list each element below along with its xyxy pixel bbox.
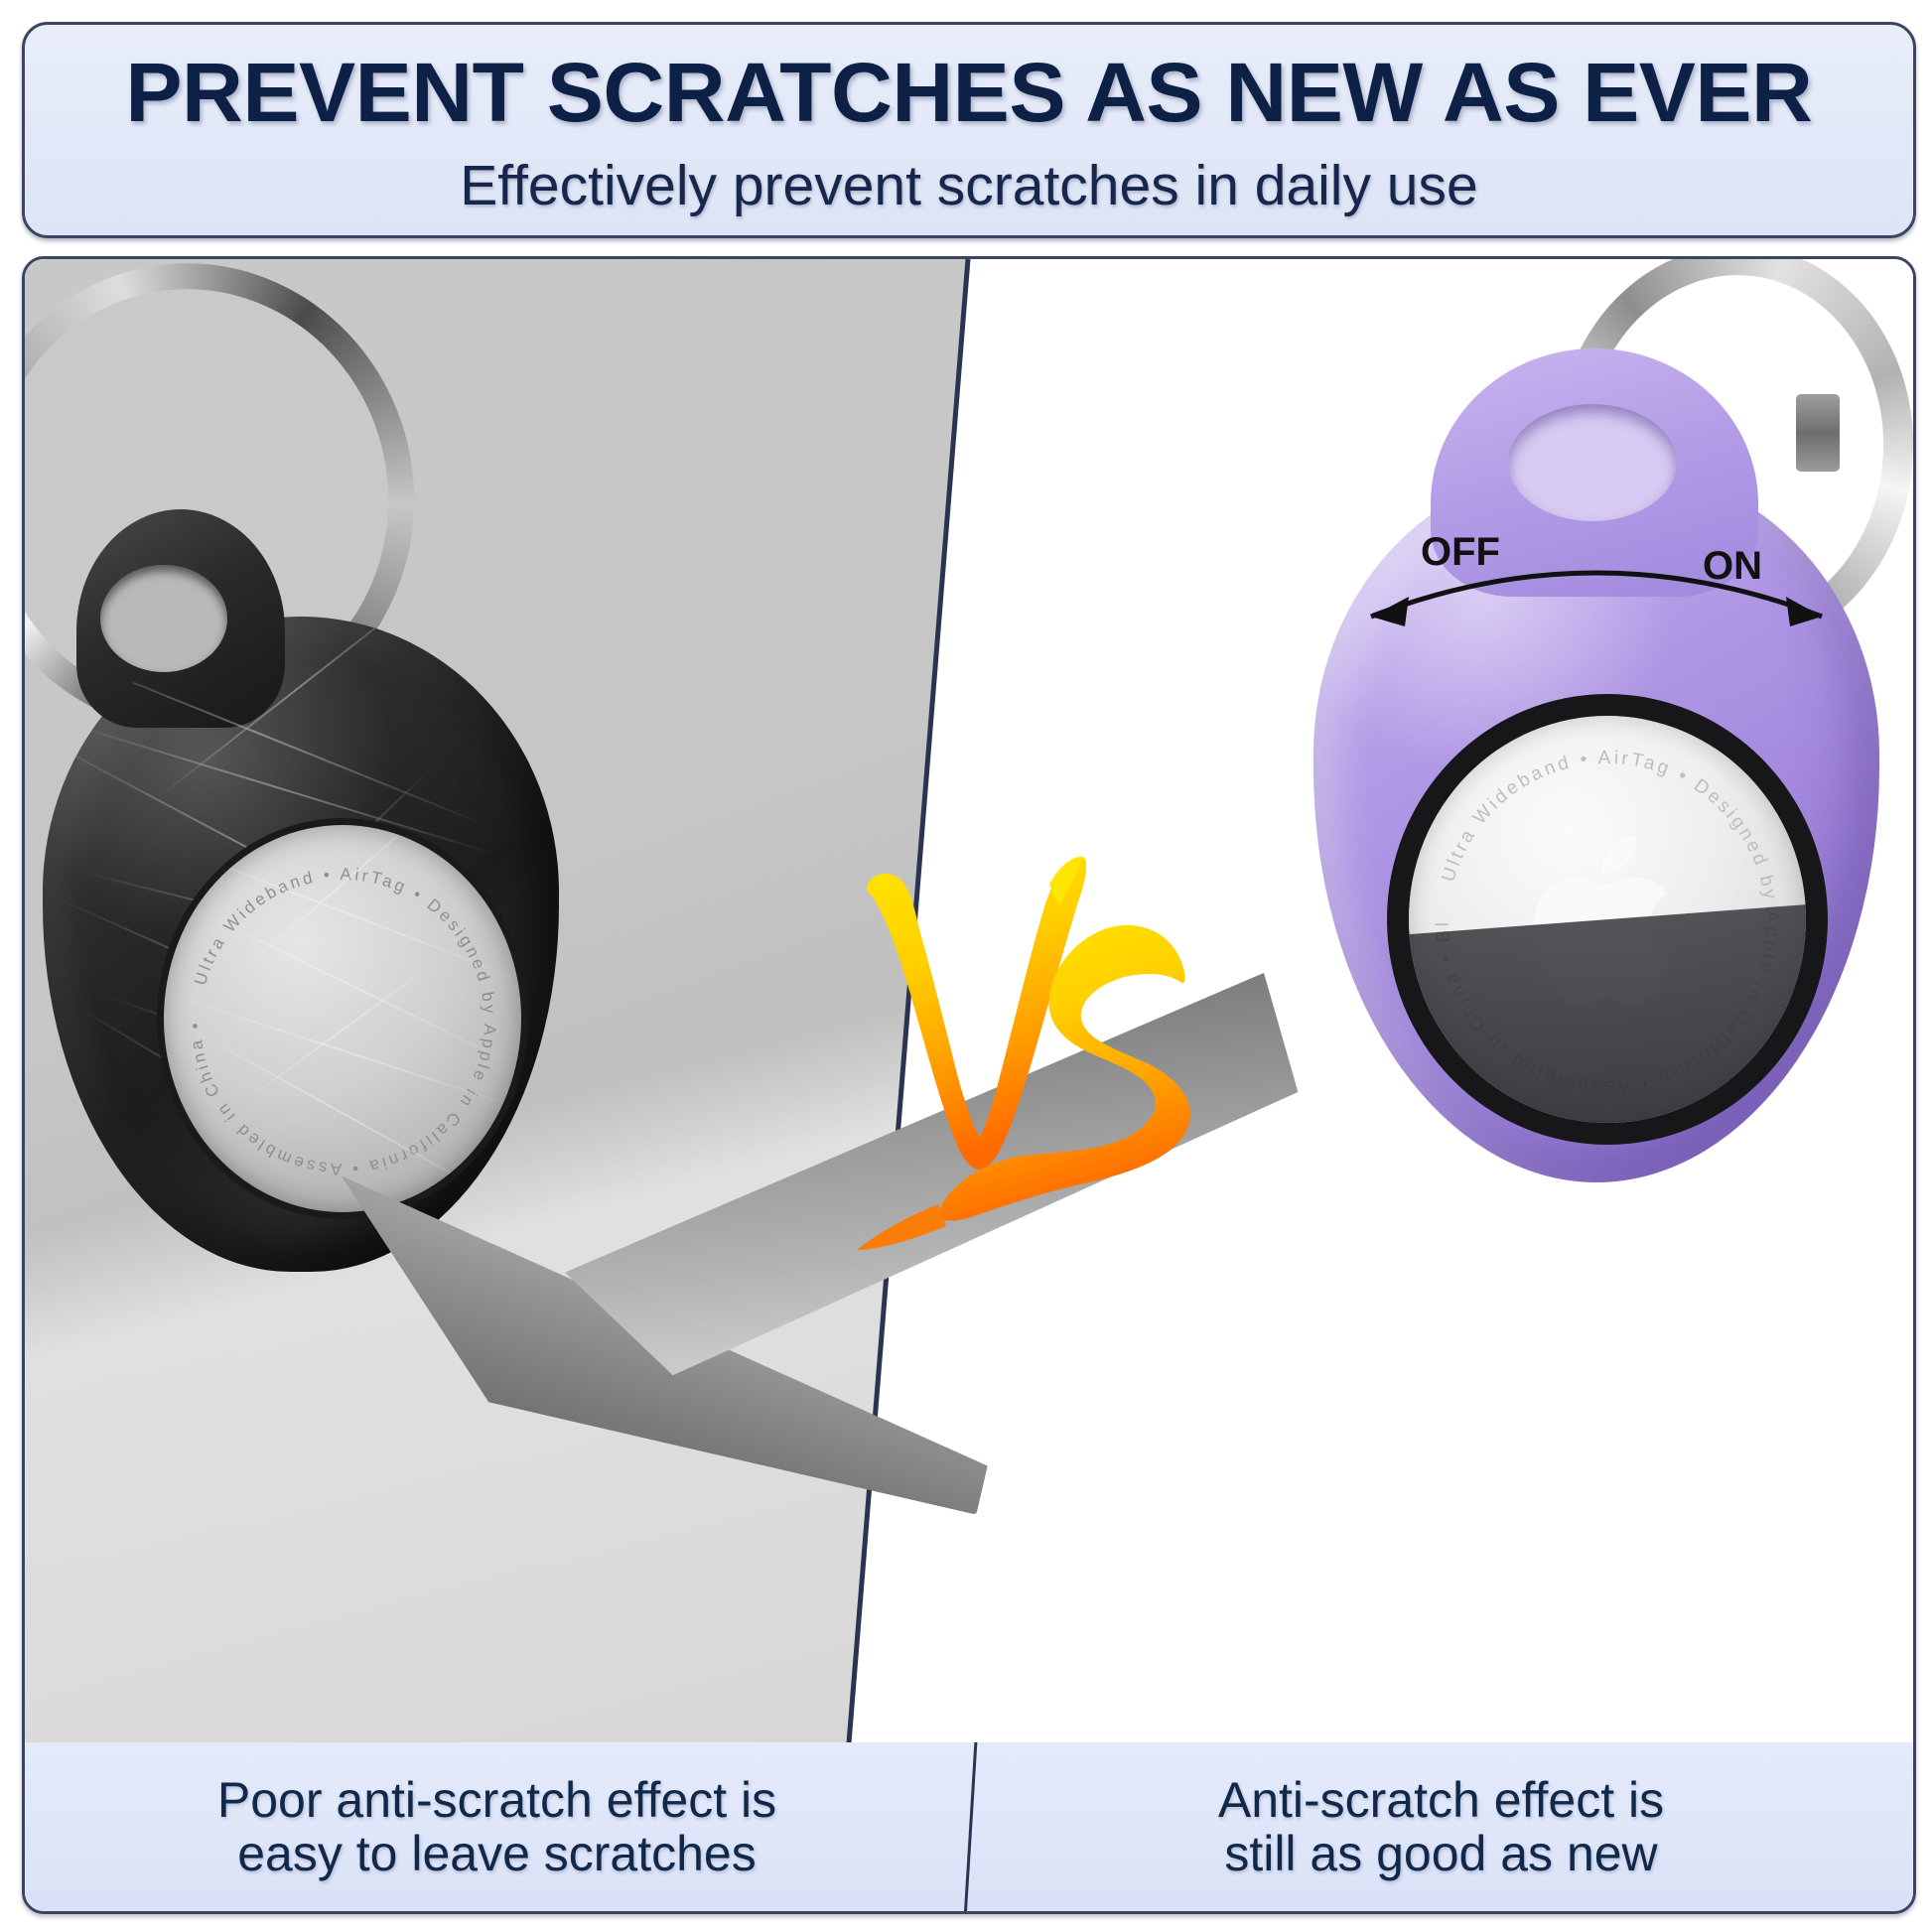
left-caption-line2: easy to leave scratches [237,1826,757,1881]
right-caption-line1: Anti-scratch effect is [1218,1772,1664,1828]
right-caption: Anti-scratch effect is still as good as … [1218,1773,1664,1880]
purple-airtag-holder: OFF ON Ultra Wideband • AirTag • Designe… [1313,468,1879,1182]
carabiner-latch [1796,394,1840,472]
left-caption-cell: Poor anti-scratch effect is easy to leav… [25,1742,969,1911]
right-caption-cell: Anti-scratch effect is still as good as … [969,1742,1913,1911]
right-caption-line2: still as good as new [1224,1826,1657,1881]
left-airtag-disc: Ultra Wideband • AirTag • Designed by Ap… [164,825,521,1212]
purple-holder-ring-hole [1508,404,1677,521]
comparison-card: Ultra Wideband • AirTag • Designed by Ap… [22,256,1916,1914]
disc-scratch-marks [164,825,521,1212]
page-title: PREVENT SCRATCHES AS NEW AS EVER [125,51,1812,134]
left-caption-line1: Poor anti-scratch effect is [217,1772,776,1828]
right-airtag-disc: Ultra Wideband • AirTag • Designed by Ap… [1409,716,1806,1123]
blade-shadow-on-disc [1409,903,1806,1123]
header-banner: PREVENT SCRATCHES AS NEW AS EVER Effecti… [22,22,1916,238]
caption-band: Poor anti-scratch effect is easy to leav… [25,1742,1913,1911]
page-subtitle: Effectively prevent scratches in daily u… [460,158,1477,214]
left-caption: Poor anti-scratch effect is easy to leav… [217,1773,776,1880]
product-comparison-infographic: PREVENT SCRATCHES AS NEW AS EVER Effecti… [0,0,1932,1932]
